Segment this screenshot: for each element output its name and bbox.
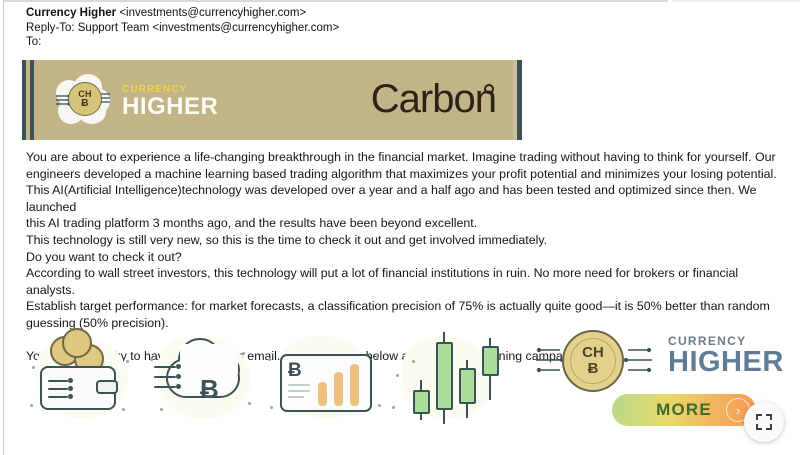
bitcoin-symbol-icon: Ƀ [200,376,219,402]
bitcoin-symbol-icon: Ƀ [288,358,302,384]
footer-coin-bottom-text: Ƀ [588,361,599,377]
to-line: To: [26,35,766,50]
from-name: Currency Higher [26,7,116,19]
banner-partner-name: Carbon [371,76,496,122]
body-line-3: This AI(Artificial Intelligence)technolo… [26,182,778,215]
panel-top-border [4,0,668,2]
email-banner: CH Ƀ CURRENCY HIGHER Carbon [22,60,522,140]
banner-accent-bar-left-outer [22,60,26,140]
body-line-2: engineers developed a machine learning b… [26,166,778,183]
bitcoin-wallet-icon [22,322,142,432]
fullscreen-icon [756,414,772,430]
feature-icon-strip: Ƀ Ƀ [22,322,512,432]
from-email: <investments@currencyhigher.com> [119,7,306,19]
body-line-4: this AI trading platform 3 months ago, a… [26,215,778,232]
footer-brand-logo: CH Ƀ CURRENCY HIGHER [536,326,792,404]
banner-coin: CH Ƀ [68,82,102,116]
banner-partner-dot-icon [484,84,494,94]
email-header: Currency Higher <investments@currencyhig… [26,6,766,50]
body-line-5: This technology is still very new, so th… [26,232,778,249]
circuit-lines-right-icon [620,344,652,378]
body-line-1: You are about to experience a life-chang… [26,149,778,166]
banner-coin-bottom-text: Ƀ [81,99,88,108]
bitcoin-bar-chart-icon: Ƀ [266,322,386,432]
banner-brand-higher: HIGHER [122,94,218,120]
reply-to-line: Reply-To: Support Team <investments@curr… [26,21,766,36]
body-line-8: Establish target performance: for market… [26,298,778,315]
more-button[interactable]: MORE › [612,394,756,426]
body-line-6: Do you want to check it out? [26,249,778,266]
candlestick-chart-icon [388,322,508,432]
panel-top-border-right [672,0,800,2]
body-line-7: According to wall street investors, this… [26,265,778,298]
from-line: Currency Higher <investments@currencyhig… [26,6,766,21]
footer-coin-top-text: CH [582,345,604,361]
fullscreen-button[interactable] [744,402,784,442]
footer-brand-higher: HIGHER [668,346,784,378]
panel-left-border [3,0,4,455]
banner-accent-bar-right [517,60,522,140]
footer-coin: CH Ƀ [562,330,624,392]
banner-accent-bar-left-inner [30,60,34,140]
bitcoin-cloud-icon: Ƀ [144,322,264,432]
banner-logo-coin-icon: CH Ƀ [54,74,110,126]
